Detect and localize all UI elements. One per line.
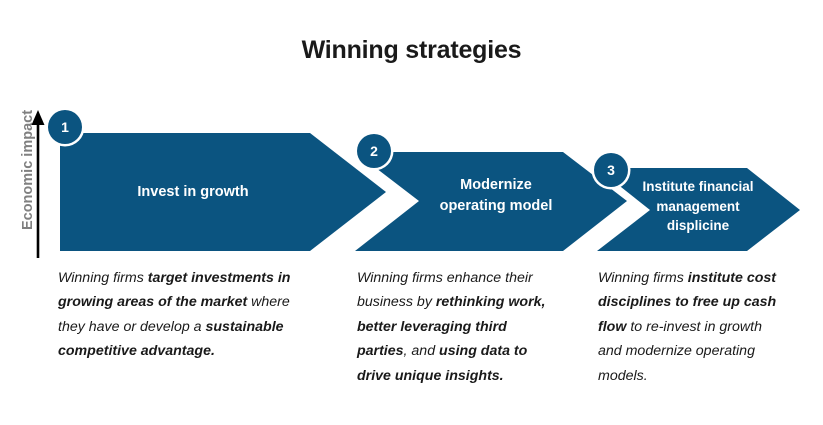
stage-description-3: Winning firms institute cost disciplines… [598,266,783,388]
chevron-badge-number-2: 2 [357,134,391,168]
chevron-badge-number-1: 1 [48,110,82,144]
stage-description-2: Winning firms enhance their business by … [357,266,547,388]
chevron-title-3: Institute financial management displicin… [614,177,782,236]
chevron-title-1: Invest in growth [74,182,312,203]
page-title: Winning strategies [0,36,823,65]
chevron-title-2: Modernize operating model [392,175,600,216]
up-arrow-icon [30,108,46,258]
stage-description-1: Winning firms target investments in grow… [58,266,316,364]
